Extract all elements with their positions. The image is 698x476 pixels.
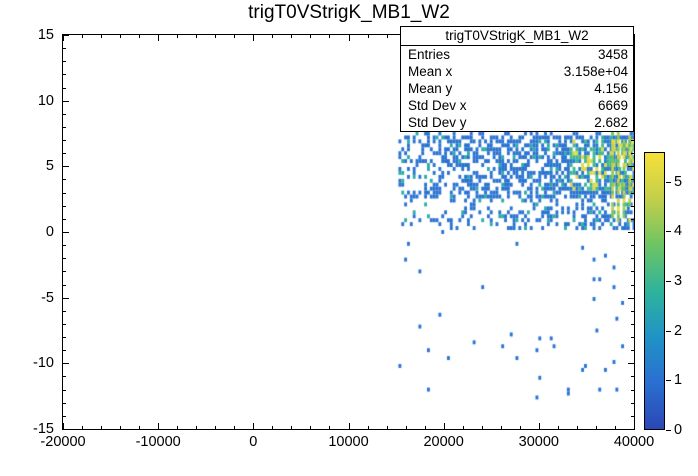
x-minor-tick	[425, 426, 426, 429]
y-minor-tick	[63, 390, 66, 391]
y-tick	[63, 298, 69, 299]
y-tick	[63, 429, 69, 430]
y-tick-label: 15	[10, 27, 54, 43]
x-minor-tick	[501, 426, 502, 429]
y-tick	[628, 298, 634, 299]
stats-box: trigT0VStrigK_MB1_W2 Entries3458Mean x3.…	[400, 26, 634, 132]
y-tick	[628, 232, 634, 233]
y-minor-tick	[63, 285, 66, 286]
x-minor-tick	[596, 426, 597, 429]
palette-tick	[666, 430, 671, 431]
y-minor-tick	[63, 311, 66, 312]
stats-row: Mean y4.156	[401, 80, 633, 97]
x-minor-tick	[234, 426, 235, 429]
y-tick	[63, 101, 69, 102]
y-minor-tick	[631, 206, 634, 207]
x-tick	[539, 423, 540, 429]
x-minor-tick	[101, 35, 102, 38]
x-minor-tick	[139, 35, 140, 38]
x-minor-tick	[329, 426, 330, 429]
x-minor-tick	[387, 35, 388, 38]
x-minor-tick	[577, 426, 578, 429]
y-tick	[628, 429, 634, 430]
y-minor-tick	[631, 219, 634, 220]
x-minor-tick	[329, 35, 330, 38]
y-tick	[63, 363, 69, 364]
palette-tick	[666, 281, 671, 282]
x-minor-tick	[196, 35, 197, 38]
y-minor-tick	[63, 48, 66, 49]
x-minor-tick	[215, 426, 216, 429]
y-minor-tick	[631, 324, 634, 325]
palette-tick-label: 3	[674, 273, 682, 289]
y-minor-tick	[63, 416, 66, 417]
x-minor-tick	[196, 426, 197, 429]
y-minor-tick	[631, 179, 634, 180]
y-minor-tick	[63, 140, 66, 141]
stats-row: Std Dev x6669	[401, 97, 633, 114]
x-tick-label: 10000	[328, 434, 368, 450]
stats-value: 3.158e+04	[564, 64, 628, 79]
x-tick	[349, 35, 350, 41]
stats-value: 6669	[598, 98, 628, 113]
x-minor-tick	[406, 426, 407, 429]
y-minor-tick	[63, 179, 66, 180]
x-minor-tick	[520, 426, 521, 429]
x-minor-tick	[615, 426, 616, 429]
x-minor-tick	[234, 35, 235, 38]
x-tick	[158, 423, 159, 429]
x-minor-tick	[177, 35, 178, 38]
x-minor-tick	[177, 426, 178, 429]
x-minor-tick	[272, 35, 273, 38]
y-tick	[628, 166, 634, 167]
x-minor-tick	[310, 426, 311, 429]
stats-key: Mean x	[408, 64, 452, 79]
y-minor-tick	[631, 271, 634, 272]
palette-tick	[666, 182, 671, 183]
x-minor-tick	[463, 426, 464, 429]
x-tick-label: 0	[249, 434, 257, 450]
y-minor-tick	[63, 258, 66, 259]
y-minor-tick	[63, 324, 66, 325]
y-tick	[63, 166, 69, 167]
stats-key: Entries	[408, 47, 450, 62]
y-minor-tick	[631, 350, 634, 351]
y-minor-tick	[631, 416, 634, 417]
x-minor-tick	[120, 426, 121, 429]
x-tick-label: 40000	[614, 434, 654, 450]
x-minor-tick	[291, 426, 292, 429]
y-minor-tick	[63, 245, 66, 246]
stats-key: Mean y	[408, 81, 452, 96]
stats-value: 2.682	[594, 115, 628, 130]
y-minor-tick	[63, 61, 66, 62]
x-tick	[253, 35, 254, 41]
y-minor-tick	[63, 114, 66, 115]
palette-tick	[666, 231, 671, 232]
y-minor-tick	[63, 193, 66, 194]
palette-tick-label: 5	[674, 174, 682, 190]
x-tick	[349, 423, 350, 429]
x-minor-tick	[291, 35, 292, 38]
stats-header: trigT0VStrigK_MB1_W2	[401, 27, 633, 46]
x-tick	[634, 423, 635, 429]
x-minor-tick	[368, 35, 369, 38]
x-minor-tick	[82, 426, 83, 429]
y-minor-tick	[631, 285, 634, 286]
stats-value: 4.156	[594, 81, 628, 96]
palette-tick-label: 2	[674, 323, 682, 339]
y-minor-tick	[63, 337, 66, 338]
y-minor-tick	[631, 245, 634, 246]
palette-tick	[666, 380, 671, 381]
y-minor-tick	[63, 271, 66, 272]
x-tick	[158, 35, 159, 41]
y-minor-tick	[631, 376, 634, 377]
y-minor-tick	[63, 153, 66, 154]
x-minor-tick	[482, 426, 483, 429]
stats-row: Std Dev y2.682	[401, 114, 633, 131]
page-title: trigT0VStrigK_MB1_W2	[0, 2, 698, 24]
y-tick-label: -10	[10, 355, 54, 371]
palette-tick-label: 4	[674, 223, 682, 239]
y-tick-label: 10	[10, 93, 54, 109]
y-minor-tick	[63, 350, 66, 351]
x-minor-tick	[272, 426, 273, 429]
palette-tick-label: 0	[674, 422, 682, 438]
y-tick	[63, 35, 69, 36]
x-tick	[444, 423, 445, 429]
y-tick	[628, 363, 634, 364]
x-minor-tick	[120, 35, 121, 38]
stats-key: Std Dev y	[408, 115, 467, 130]
y-minor-tick	[631, 403, 634, 404]
y-minor-tick	[631, 140, 634, 141]
y-minor-tick	[631, 193, 634, 194]
stats-rows: Entries3458Mean x3.158e+04Mean y4.156Std…	[401, 46, 633, 131]
stats-row: Mean x3.158e+04	[401, 63, 633, 80]
y-minor-tick	[631, 337, 634, 338]
y-minor-tick	[63, 219, 66, 220]
y-minor-tick	[63, 88, 66, 89]
y-tick-label: -15	[10, 421, 54, 437]
palette-tick-label: 1	[674, 372, 682, 388]
stats-row: Entries3458	[401, 46, 633, 63]
y-tick-label: 5	[10, 158, 54, 174]
x-tick-label: -10000	[136, 434, 181, 450]
y-tick-label: 0	[10, 224, 54, 240]
x-minor-tick	[310, 35, 311, 38]
x-tick-label: 30000	[519, 434, 559, 450]
x-minor-tick	[387, 426, 388, 429]
y-minor-tick	[631, 311, 634, 312]
x-minor-tick	[139, 426, 140, 429]
y-minor-tick	[63, 403, 66, 404]
x-minor-tick	[215, 35, 216, 38]
palette-axis: 012345	[645, 152, 679, 430]
y-minor-tick	[63, 206, 66, 207]
palette-tick	[666, 331, 671, 332]
y-minor-tick	[63, 74, 66, 75]
x-tick	[634, 35, 635, 41]
stats-key: Std Dev x	[408, 98, 467, 113]
y-tick	[63, 232, 69, 233]
x-minor-tick	[368, 426, 369, 429]
stats-value: 3458	[598, 47, 628, 62]
y-minor-tick	[63, 376, 66, 377]
x-minor-tick	[82, 35, 83, 38]
y-minor-tick	[631, 258, 634, 259]
y-minor-tick	[63, 127, 66, 128]
x-tick-label: 20000	[423, 434, 463, 450]
y-minor-tick	[631, 390, 634, 391]
x-minor-tick	[558, 426, 559, 429]
x-tick	[253, 423, 254, 429]
y-minor-tick	[631, 153, 634, 154]
x-minor-tick	[101, 426, 102, 429]
y-tick-label: -5	[10, 290, 54, 306]
